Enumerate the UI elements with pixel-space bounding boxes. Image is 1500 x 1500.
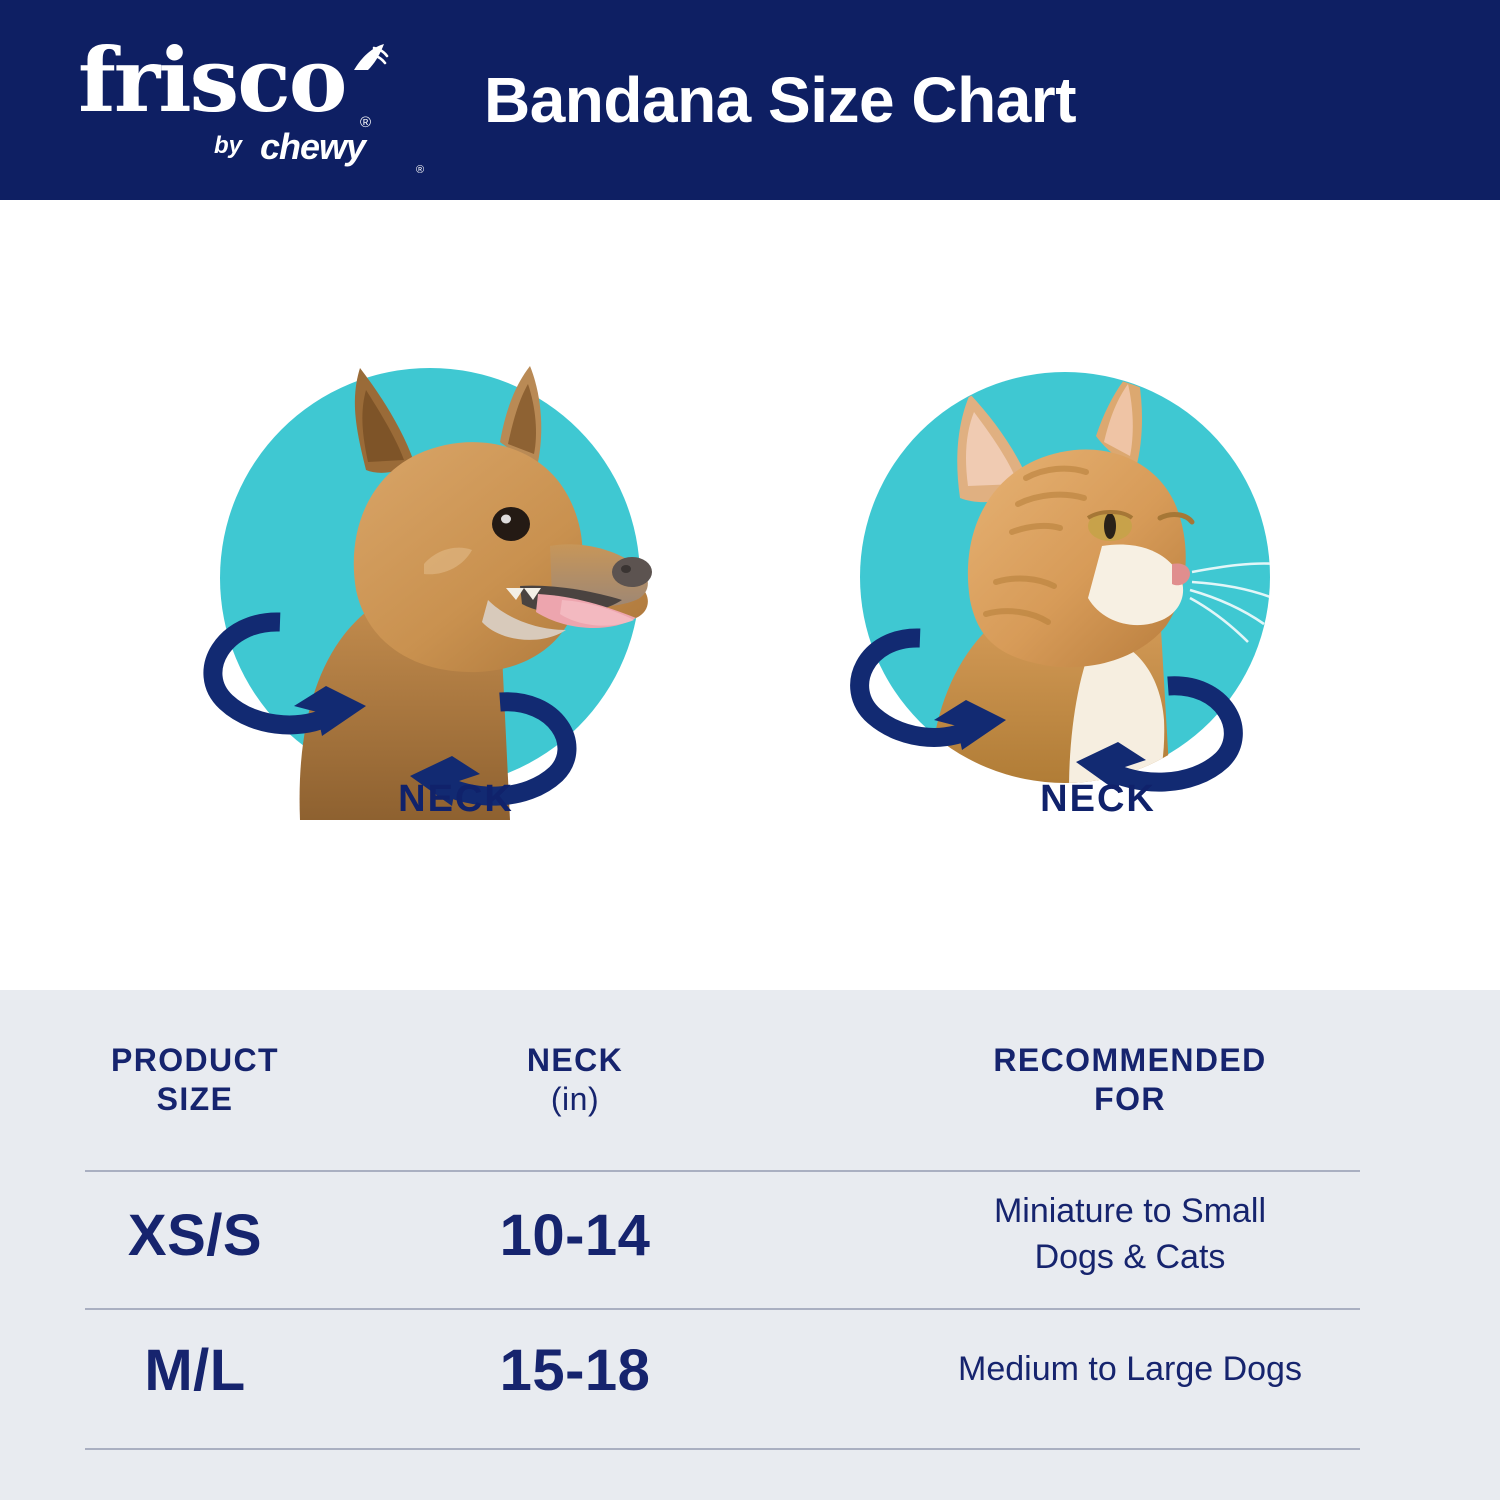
header-product-line1: PRODUCT [111, 1041, 279, 1080]
header-neck-unit: (in) [527, 1080, 623, 1119]
table-header-product-size: PRODUCT SIZE [0, 1010, 390, 1150]
page-title: Bandana Size Chart [0, 0, 1500, 200]
dog-head-image [170, 350, 670, 820]
header-neck-line1: NECK [527, 1041, 623, 1080]
row-1-neck: 15-18 [390, 1310, 760, 1430]
illustration-area: NECK [0, 200, 1500, 990]
table-header-recommended: RECOMMENDED FOR [760, 1010, 1500, 1150]
row-0-recommended-line1: Miniature to Small [994, 1189, 1266, 1235]
header-recommended-line1: RECOMMENDED [993, 1041, 1266, 1080]
row-1-recommended-line1: Medium to Large Dogs [958, 1347, 1302, 1393]
cat-neck-label: NECK [848, 778, 1348, 821]
row-0-recommended-line2: Dogs & Cats [994, 1235, 1266, 1281]
dog-neck-label: NECK [206, 778, 706, 821]
row-1-recommended: Medium to Large Dogs [760, 1310, 1500, 1430]
cat-head-image [820, 350, 1320, 820]
header-recommended-line2: FOR [993, 1080, 1266, 1119]
row-1-size: M/L [0, 1310, 390, 1430]
table-header-neck: NECK (in) [390, 1010, 760, 1150]
table-row: XS/S 10-14 Miniature to Small Dogs & Cat… [0, 1170, 1500, 1300]
row-0-size: XS/S [0, 1170, 390, 1300]
table-header-row: PRODUCT SIZE NECK (in) RECOMMENDED FOR [0, 1010, 1500, 1150]
row-0-recommended: Miniature to Small Dogs & Cats [760, 1170, 1500, 1300]
row-0-neck: 10-14 [390, 1170, 760, 1300]
size-table: PRODUCT SIZE NECK (in) RECOMMENDED FOR X… [0, 990, 1500, 1500]
header-product-line2: SIZE [111, 1080, 279, 1119]
cat-illustration: NECK [820, 350, 1320, 870]
dog-illustration: NECK [170, 350, 670, 870]
page-header: frisco ® by chewy ® Bandana Size Chart [0, 0, 1500, 200]
table-divider-bottom [85, 1448, 1360, 1450]
table-row: M/L 15-18 Medium to Large Dogs [0, 1310, 1500, 1430]
